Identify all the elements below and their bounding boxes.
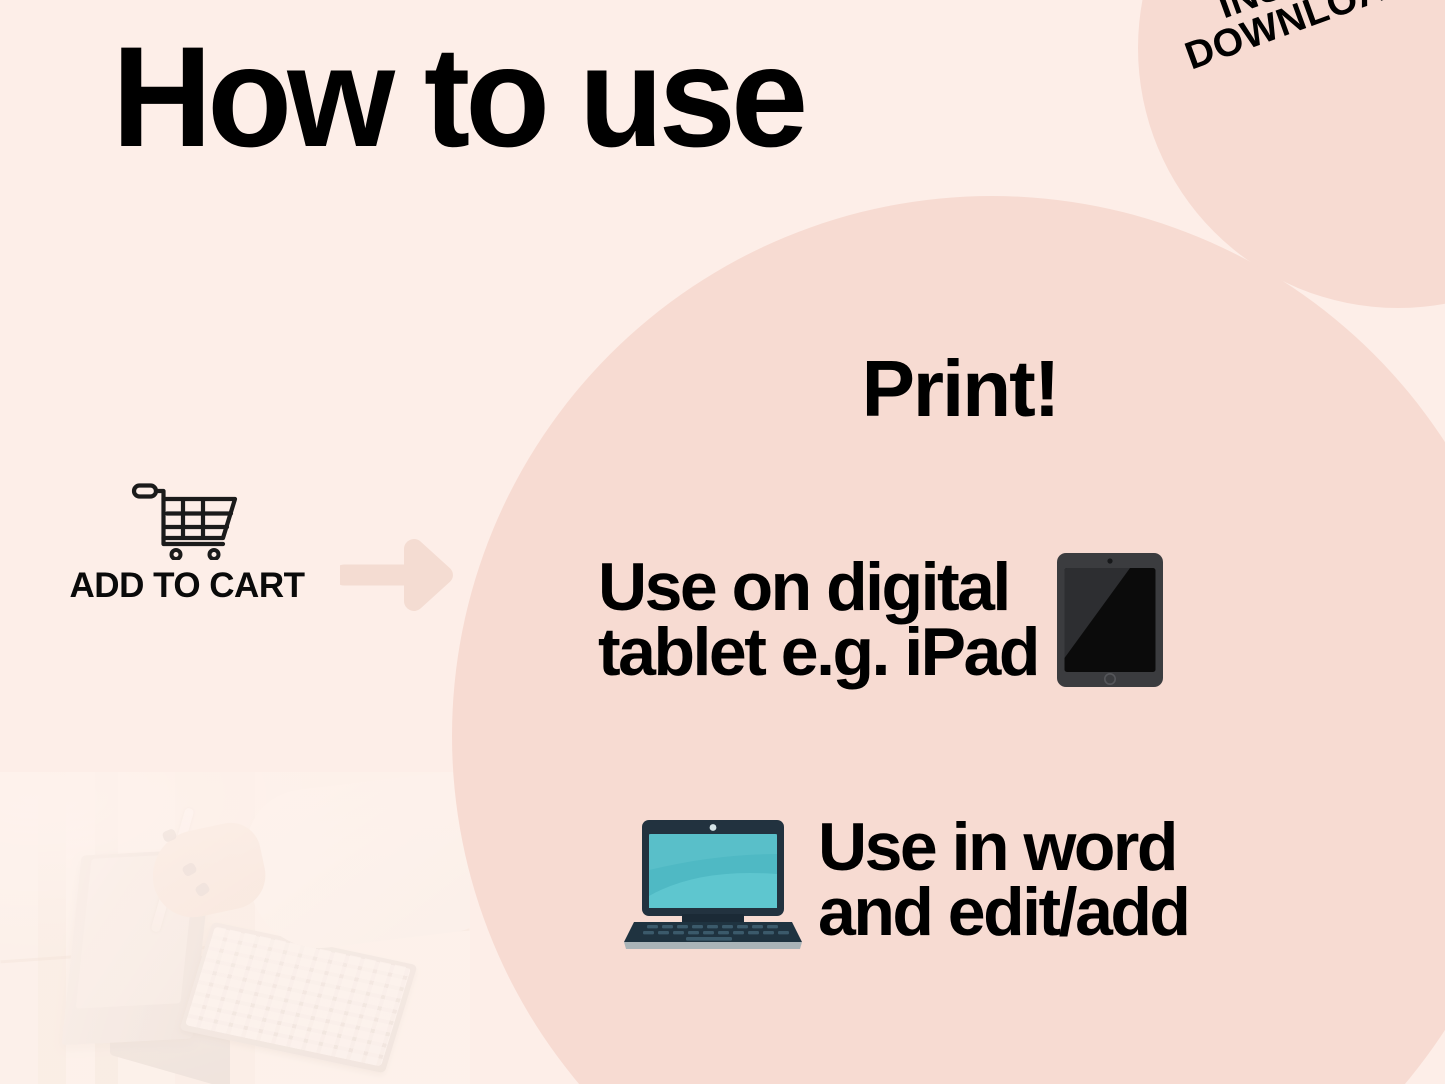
step-word-line-2: and edit/add — [818, 880, 1188, 945]
add-to-cart-block: ADD TO CART — [52, 482, 322, 606]
arrow-right-icon — [340, 536, 456, 614]
step-word-line-1: Use in word — [818, 815, 1188, 880]
step-word-text: Use in word and edit/add — [818, 815, 1188, 944]
laptop-icon — [620, 810, 806, 950]
step-tablet-text: Use on digital tablet e.g. iPad — [598, 555, 1038, 684]
step-print-label: Print! — [700, 349, 1220, 429]
poster-canvas: INSTANT DOWNLOAD How to use ADD TO CART — [0, 0, 1445, 1084]
lifestyle-photo — [0, 772, 470, 1084]
step-word-row: Use in word and edit/add — [620, 810, 1188, 950]
tablet-icon — [1056, 552, 1164, 688]
add-to-cart-label: ADD TO CART — [52, 566, 322, 606]
step-tablet-line-1: Use on digital — [598, 555, 1038, 620]
step-tablet-line-2: tablet e.g. iPad — [598, 620, 1038, 685]
page-title: How to use — [112, 26, 803, 169]
shopping-cart-icon — [131, 482, 243, 560]
step-tablet-row: Use on digital tablet e.g. iPad — [598, 552, 1164, 688]
photo-pink-overlay-2 — [0, 772, 470, 1084]
